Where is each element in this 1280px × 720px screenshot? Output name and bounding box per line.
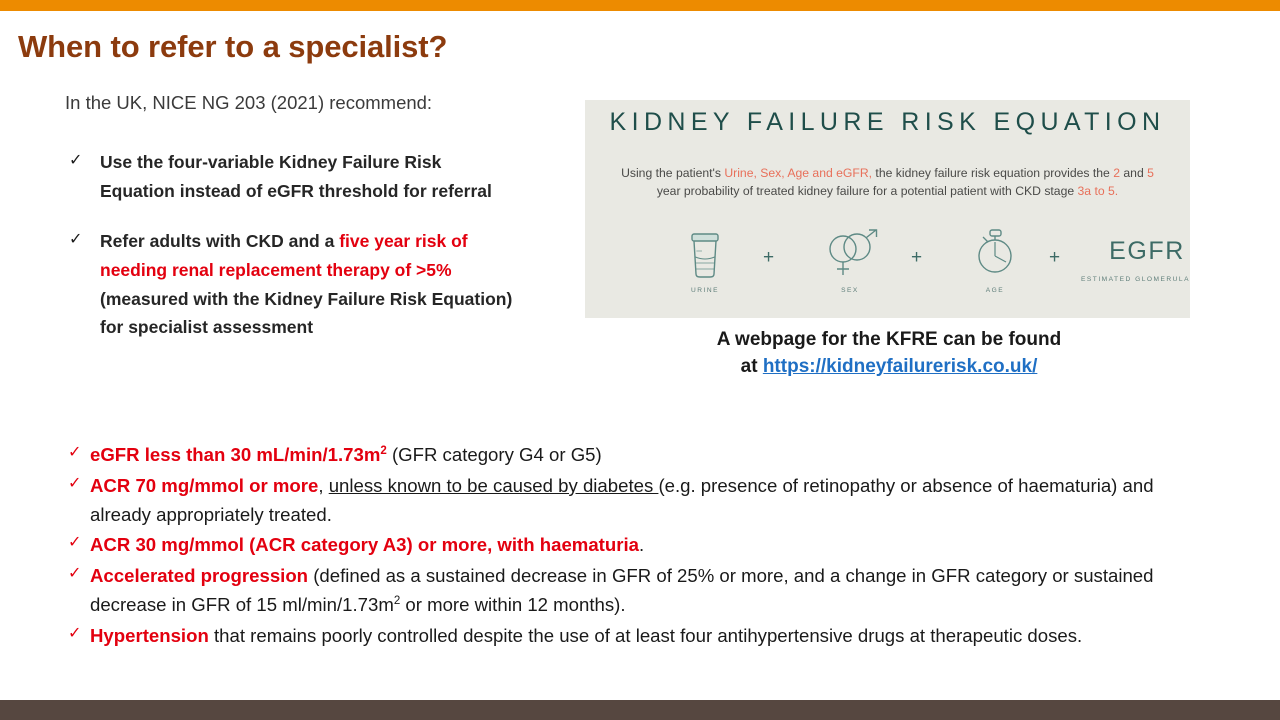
kfre-caption-urine: URINE: [667, 287, 743, 294]
lower-bullet-segment: that remains poorly controlled despite t…: [209, 625, 1082, 646]
kfre-caption-egfr: ESTIMATED GLOMERULAR FILTRATION RATE: [1081, 275, 1190, 285]
lower-bullet-item: ✓Accelerated progression (defined as a s…: [66, 562, 1216, 620]
upper-bullet-text: Use the four-variable Kidney Failure Ris…: [100, 152, 492, 201]
lower-bullet-segment: (GFR category G4 or G5): [387, 444, 602, 465]
check-icon: ✓: [69, 227, 82, 253]
lower-bullet-item: ✓eGFR less than 30 mL/min/1.73m2 (GFR ca…: [66, 441, 1216, 470]
stopwatch-icon: [971, 266, 1019, 283]
upper-bullet-segment: (measured with the Kidney Failure Risk E…: [100, 289, 512, 338]
kfre-title: KIDNEY FAILURE RISK EQUATION: [585, 108, 1190, 137]
kfre-webpage-caption: A webpage for the KFRE can be found at h…: [585, 327, 1193, 381]
check-icon: ✓: [68, 472, 81, 497]
lower-bullet-segment: or more within 12 months).: [400, 594, 625, 615]
egfr-label: EGFR: [1081, 237, 1190, 266]
lower-bullet-segment: unless known to be caused by diabetes: [329, 475, 659, 496]
bottom-accent-bar: [0, 700, 1280, 720]
urine-cup-icon: [685, 266, 725, 283]
kfre-description: Using the patient's Urine, Sex, Age and …: [613, 164, 1162, 200]
kfre-desc-segment: 3a to 5.: [1078, 184, 1119, 198]
lower-bullet-text: Hypertension that remains poorly control…: [90, 625, 1082, 646]
check-icon: ✓: [68, 562, 81, 587]
kfre-factor-age: AGE: [957, 227, 1033, 294]
upper-bullet-list: ✓Use the four-variable Kidney Failure Ri…: [66, 148, 521, 364]
sex-symbols-icon: [819, 266, 881, 283]
page-title: When to refer to a specialist?: [18, 29, 447, 65]
lower-bullet-segment: Accelerated progression: [90, 565, 308, 586]
kfre-caption-sex: SEX: [807, 287, 893, 294]
lower-bullet-segment: ,: [318, 475, 328, 496]
upper-bullet-segment: Use the four-variable Kidney Failure Ris…: [100, 152, 492, 201]
lower-bullet-item: ✓ACR 30 mg/mmol (ACR category A3) or mor…: [66, 531, 1216, 560]
kfre-caption-prefix: at: [741, 356, 763, 377]
upper-bullet-segment: Refer adults with CKD and a: [100, 231, 339, 251]
check-icon: ✓: [68, 441, 81, 466]
kfre-desc-segment: and: [1120, 166, 1147, 180]
lower-bullet-segment: ACR 70 mg/mmol or more: [90, 475, 318, 496]
kfre-caption-age: AGE: [957, 287, 1033, 294]
kfre-desc-segment: year probability of treated kidney failu…: [657, 184, 1078, 198]
intro-text: In the UK, NICE NG 203 (2021) recommend:: [65, 92, 432, 114]
lower-bullet-segment: ACR 30 mg/mmol (ACR category A3) or more…: [90, 534, 639, 555]
kfre-plus-3: +: [1049, 247, 1060, 269]
kfre-desc-segment: 2: [1113, 166, 1120, 180]
kfre-desc-segment: 5: [1147, 166, 1154, 180]
lower-bullet-segment: eGFR less than 30 mL/min/1.73m: [90, 444, 380, 465]
kfre-factor-row: URINE + SEX +: [585, 225, 1190, 317]
lower-bullet-item: ✓ACR 70 mg/mmol or more, unless known to…: [66, 472, 1216, 530]
lower-bullet-text: eGFR less than 30 mL/min/1.73m2 (GFR cat…: [90, 444, 602, 465]
kfre-desc-segment: Urine, Sex, Age and eGFR,: [724, 166, 872, 180]
lower-bullet-segment: Hypertension: [90, 625, 209, 646]
lower-bullet-item: ✓Hypertension that remains poorly contro…: [66, 622, 1216, 651]
upper-bullet-item: ✓Use the four-variable Kidney Failure Ri…: [66, 148, 521, 205]
kfre-desc-segment: the kidney failure risk equation provide…: [872, 166, 1113, 180]
kfre-plus-1: +: [763, 247, 774, 269]
kfre-factor-egfr: EGFR ESTIMATED GLOMERULAR FILTRATION RAT…: [1081, 237, 1190, 285]
kfre-desc-segment: Using the patient's: [621, 166, 724, 180]
kfre-factor-urine: URINE: [667, 231, 743, 294]
upper-bullet-text: Refer adults with CKD and a five year ri…: [100, 231, 512, 337]
kfre-caption-line1: A webpage for the KFRE can be found: [717, 329, 1061, 350]
lower-bullet-text: Accelerated progression (defined as a su…: [90, 565, 1154, 615]
check-icon: ✓: [68, 531, 81, 556]
lower-bullet-list: ✓eGFR less than 30 mL/min/1.73m2 (GFR ca…: [66, 441, 1216, 653]
kfre-website-link[interactable]: https://kidneyfailurerisk.co.uk/: [763, 356, 1038, 377]
upper-bullet-item: ✓Refer adults with CKD and a five year r…: [66, 227, 521, 342]
check-icon: ✓: [68, 622, 81, 647]
kfre-factor-sex: SEX: [807, 227, 893, 294]
lower-bullet-segment: .: [639, 534, 644, 555]
kfre-plus-2: +: [911, 247, 922, 269]
top-accent-bar: [0, 0, 1280, 11]
slide-canvas: When to refer to a specialist? In the UK…: [0, 0, 1280, 720]
lower-bullet-text: ACR 70 mg/mmol or more, unless known to …: [90, 475, 1154, 525]
lower-bullet-text: ACR 30 mg/mmol (ACR category A3) or more…: [90, 534, 644, 555]
kfre-infographic: KIDNEY FAILURE RISK EQUATION Using the p…: [585, 100, 1190, 318]
check-icon: ✓: [69, 148, 82, 174]
